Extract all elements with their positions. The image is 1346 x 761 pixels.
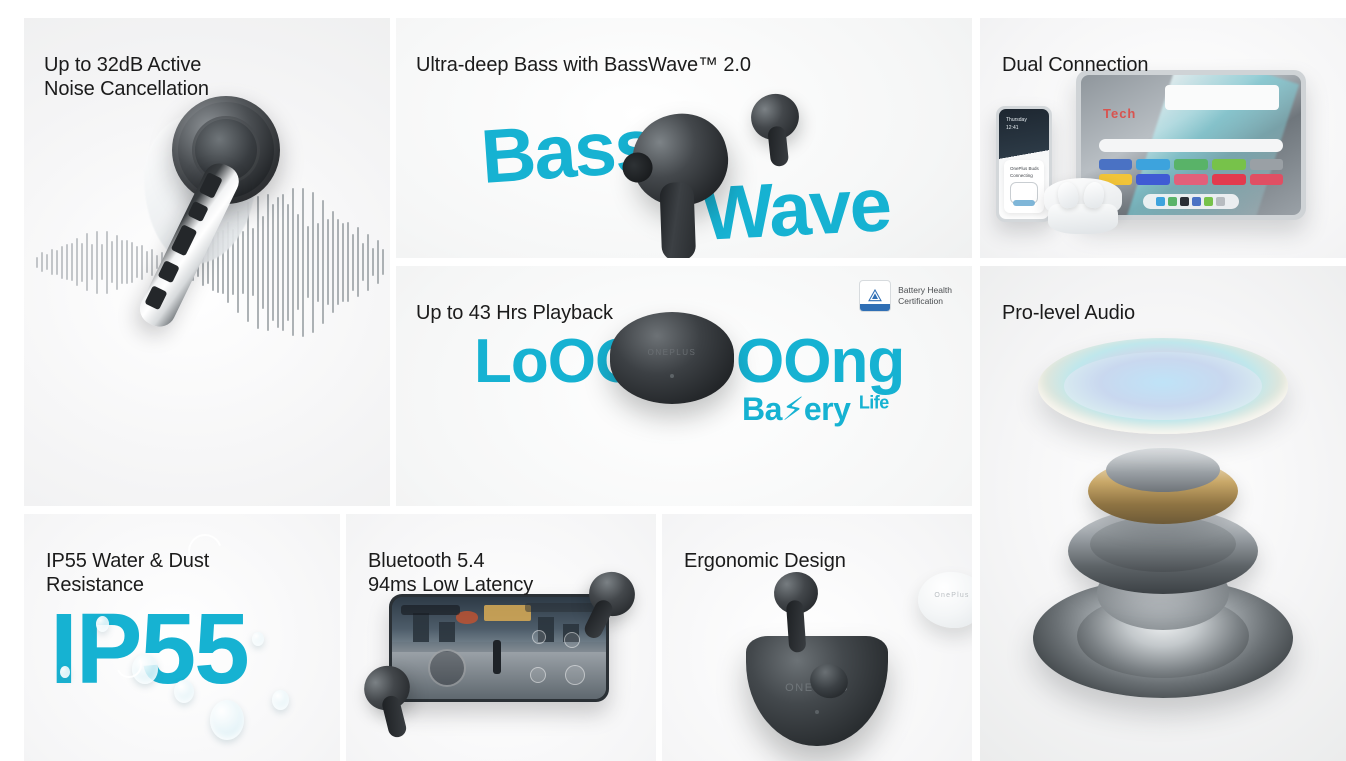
panel-ergonomic-design[interactable]: ONEPLUS OnePlus Ergonomic Design bbox=[662, 514, 972, 761]
charging-case: ONEPLUS bbox=[610, 312, 734, 404]
game-action-button[interactable] bbox=[565, 665, 585, 685]
game-action-button[interactable] bbox=[532, 630, 546, 644]
pairing-device-name: OnePlus BudsConnecting bbox=[1010, 165, 1039, 179]
driver-iridescent-diaphragm bbox=[1038, 338, 1288, 434]
case-led-icon bbox=[815, 710, 819, 714]
soundwave-left-icon bbox=[36, 177, 163, 347]
basswave-word-wave: Wave bbox=[700, 161, 892, 258]
gaming-phone bbox=[389, 594, 609, 702]
panel-title-pro-audio: Pro-level Audio bbox=[1002, 301, 1135, 325]
water-droplet-icon bbox=[252, 632, 264, 646]
lightning-bolt-icon: ⚡ bbox=[782, 391, 804, 427]
battery-word-right: OOng bbox=[736, 326, 904, 397]
game-joystick[interactable] bbox=[428, 649, 466, 687]
panel-title-bluetooth: Bluetooth 5.4 94ms Low Latency bbox=[368, 549, 533, 598]
water-droplet-icon bbox=[60, 666, 70, 678]
phone-status-text: Thursday12:41 bbox=[1006, 117, 1027, 132]
battery-life-tagline: Ba⚡ery Life bbox=[742, 390, 889, 428]
water-droplet-icon bbox=[210, 700, 244, 740]
battery-tagline-life: Life bbox=[859, 392, 889, 412]
driver-gold-voice-coil bbox=[1088, 458, 1238, 524]
ip55-big-text: IP55 bbox=[50, 592, 248, 707]
pro-audio-illustration bbox=[980, 266, 1346, 761]
panel-battery-playback[interactable]: LoOO ONEPLUS OOng Ba⚡ery Life Battery He… bbox=[396, 266, 972, 506]
game-top-bar bbox=[525, 603, 598, 612]
white-accessory-puck: OnePlus bbox=[918, 572, 972, 628]
water-droplet-icon bbox=[96, 616, 109, 632]
earbud-small bbox=[746, 88, 805, 145]
water-droplet-icon bbox=[272, 690, 289, 710]
case-brand-logo: ONEPLUS bbox=[648, 348, 697, 357]
panel-pro-level-audio[interactable]: Pro-level Audio bbox=[980, 266, 1346, 761]
panel-bluetooth-latency[interactable]: Bluetooth 5.4 94ms Low Latency bbox=[346, 514, 656, 761]
panel-active-noise-cancellation[interactable]: Up to 32dB Active Noise Cancellation bbox=[24, 18, 390, 506]
phone-screen: Thursday12:41 OnePlus BudsConnecting bbox=[999, 109, 1049, 219]
panel-basswave[interactable]: Bass Wave Ultra-deep Bass with BassWave™… bbox=[396, 18, 972, 258]
game-hud-panel bbox=[401, 605, 461, 615]
speaker-driver-exploded-view bbox=[1013, 338, 1313, 738]
battery-health-certification: Battery HealthCertification bbox=[859, 280, 952, 312]
water-droplet-icon bbox=[174, 680, 194, 703]
panel-title-anc: Up to 32dB Active Noise Cancellation bbox=[44, 53, 209, 102]
tablet-app-icons bbox=[1099, 159, 1284, 185]
tablet-search-bar bbox=[1099, 139, 1284, 152]
earbud-upper bbox=[771, 569, 820, 617]
pairing-connect-button[interactable] bbox=[1013, 200, 1035, 206]
basswave-word-bass: Bass bbox=[478, 102, 657, 201]
panel-title-ip55: IP55 Water & Dust Resistance bbox=[46, 549, 209, 598]
game-screen bbox=[392, 597, 606, 699]
phone-pairing-popup: OnePlus BudsConnecting bbox=[1004, 160, 1044, 213]
game-action-button[interactable] bbox=[530, 667, 546, 683]
certification-label: Battery HealthCertification bbox=[898, 285, 952, 308]
earbud-right bbox=[583, 566, 640, 622]
game-action-button[interactable] bbox=[564, 632, 580, 648]
battery-health-certificate-icon bbox=[859, 280, 891, 312]
panel-dual-connection[interactable]: Tech Thursday12:41 bbox=[980, 18, 1346, 258]
panel-title-basswave: Ultra-deep Bass with BassWave™ 2.0 bbox=[416, 53, 751, 77]
feature-grid-page: Up to 32dB Active Noise Cancellation Bas… bbox=[0, 0, 1346, 761]
tablet-widget-text: Tech bbox=[1103, 106, 1136, 121]
puck-brand-logo: OnePlus bbox=[934, 592, 969, 599]
panel-title-dual-connection: Dual Connection bbox=[1002, 53, 1148, 77]
panel-title-battery: Up to 43 Hrs Playback bbox=[416, 301, 613, 325]
case-led-icon bbox=[670, 374, 674, 378]
tablet-dock bbox=[1143, 194, 1240, 209]
earbuds-case-open bbox=[1044, 178, 1122, 234]
battery-tagline-ba: Ba bbox=[742, 391, 782, 427]
panel-title-ergonomic: Ergonomic Design bbox=[684, 549, 846, 573]
panel-ip55-resistance[interactable]: IP55 IP55 Water & Dust Resistance bbox=[24, 514, 340, 761]
battery-tagline-ery: ery bbox=[804, 391, 851, 427]
